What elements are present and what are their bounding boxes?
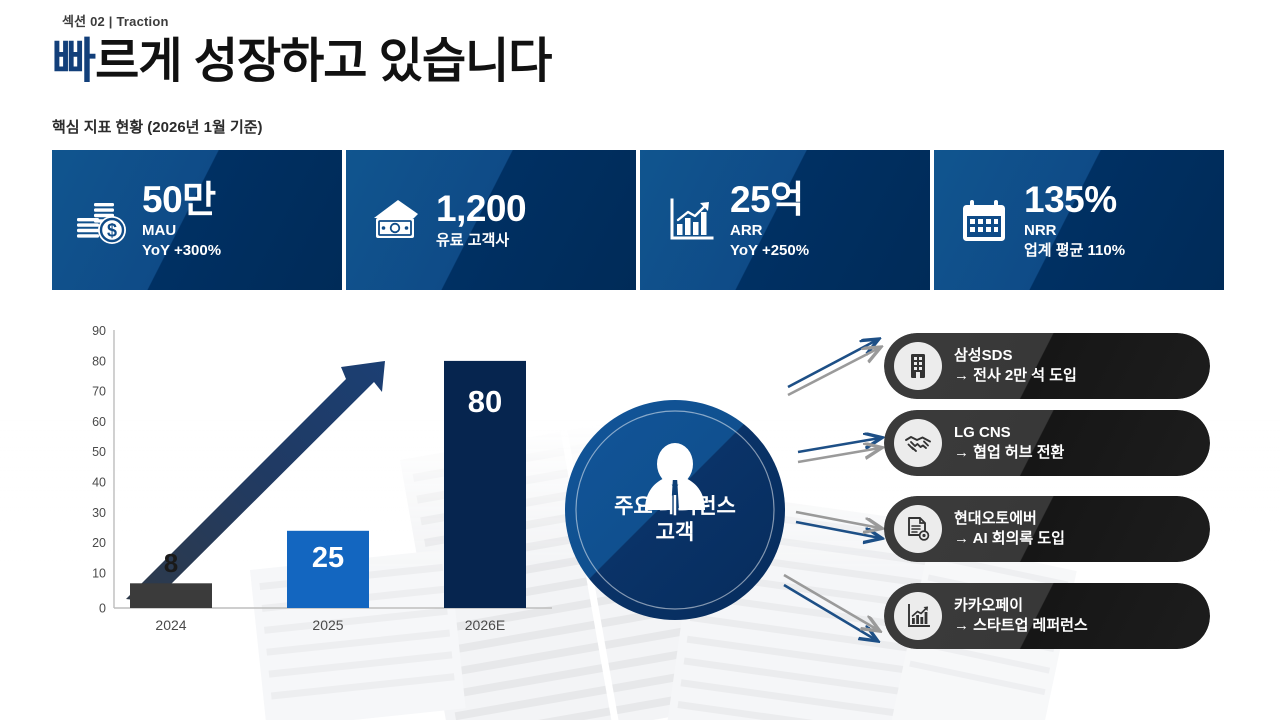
svg-text:2026E: 2026E <box>465 617 505 633</box>
pill-icon-badge <box>894 342 942 390</box>
svg-text:2025: 2025 <box>312 617 343 633</box>
calendar-icon <box>956 192 1012 248</box>
svg-text:40: 40 <box>92 476 106 490</box>
pill-title: 현대오토에버 <box>954 509 1065 529</box>
reference-pill-samsung-sds[interactable]: 삼성SDS → 전사 2만 석 도입 <box>884 333 1210 399</box>
kpi-sublabel: YoY +250% <box>730 241 809 261</box>
page-title: 빠르게 성장하고 있습니다 <box>52 34 551 89</box>
reference-pill-hyundai-autoever[interactable]: 현대오토에버 → AI 회의록 도입 <box>884 496 1210 562</box>
svg-text:10: 10 <box>92 566 106 580</box>
page-subtitle: 핵심 지표 현황 (2026년 1월 기준) <box>52 116 263 137</box>
page-title-accent: 빠 <box>52 35 95 88</box>
chart-growth-icon <box>904 602 932 630</box>
kpi-card-arr[interactable]: 25억 ARR YoY +250% <box>640 150 930 290</box>
svg-text:50: 50 <box>92 445 106 459</box>
connector-3 <box>796 512 880 538</box>
pill-title: 카카오페이 <box>954 596 1088 616</box>
pill-icon-badge <box>894 505 942 553</box>
kpi-sublabel: 업계 평균 110% <box>1024 241 1125 261</box>
pill-description: → 전사 2만 석 도입 <box>954 366 1077 386</box>
connector-arrows <box>780 320 900 660</box>
reference-hub[interactable]: 주요 레퍼런스 고객 <box>563 398 787 622</box>
pill-icon-badge <box>894 419 942 467</box>
kpi-sublabel: YoY +300% <box>142 241 221 261</box>
banknote-icon <box>368 192 424 248</box>
handshake-icon <box>904 429 932 457</box>
svg-text:30: 30 <box>92 506 106 520</box>
kpi-value: 135% <box>1024 180 1125 219</box>
pill-description: → 협업 허브 전환 <box>954 443 1064 463</box>
kpi-label: MAU <box>142 221 221 241</box>
svg-text:$: $ <box>107 221 117 241</box>
svg-text:20: 20 <box>92 536 106 550</box>
chart-y-ticks: 90 80 70 60 50 40 30 20 10 0 <box>92 324 106 616</box>
svg-text:2024: 2024 <box>155 617 186 633</box>
chart-value-label-2025: 25 <box>312 542 344 574</box>
kpi-card-paid-customers[interactable]: 1,200 유료 고객사 <box>346 150 636 290</box>
svg-text:0: 0 <box>99 602 106 616</box>
hub-circle <box>563 398 787 622</box>
page-title-rest: 르게 성장하고 있습니다 <box>95 35 551 88</box>
kpi-card-nrr[interactable]: 135% NRR 업계 평균 110% <box>934 150 1224 290</box>
bar-chart-up-icon <box>662 192 718 248</box>
document-gear-icon <box>904 515 932 543</box>
pill-title: 삼성SDS <box>954 346 1077 366</box>
connector-4 <box>784 575 878 640</box>
reference-pill-kakaopay[interactable]: 카카오페이 → 스타트업 레퍼런스 <box>884 583 1210 649</box>
section-eyebrow: 섹션 02 | Traction <box>62 11 169 30</box>
kpi-value: 50만 <box>142 180 221 219</box>
kpi-label: 유료 고객사 <box>436 231 526 251</box>
kpi-label: NRR <box>1024 221 1125 241</box>
chart-bar-2024 <box>130 583 212 608</box>
kpi-card-mau[interactable]: $ 50만 MAU YoY +300% <box>52 150 342 290</box>
chart-x-ticks: 2024 2025 2026E <box>155 617 505 633</box>
coins-dollar-icon: $ <box>74 192 130 248</box>
kpi-card-row: $ 50만 MAU YoY +300% <box>52 150 1228 290</box>
kpi-label: ARR <box>730 221 809 241</box>
kpi-value: 1,200 <box>436 189 526 228</box>
building-icon <box>904 352 932 380</box>
svg-text:60: 60 <box>92 415 106 429</box>
svg-text:90: 90 <box>92 324 106 338</box>
chart-value-label-2024: 8 <box>164 548 178 578</box>
pill-title: LG CNS <box>954 423 1064 443</box>
pill-icon-badge <box>894 592 942 640</box>
connector-2 <box>798 438 880 462</box>
svg-text:80: 80 <box>92 354 106 368</box>
connector-1 <box>788 340 879 395</box>
pill-description: → AI 회의록 도입 <box>954 529 1065 549</box>
slide-root: 섹션 02 | Traction 빠르게 성장하고 있습니다 핵심 지표 현황 … <box>0 0 1280 720</box>
pill-description: → 스타트업 레퍼런스 <box>954 616 1088 636</box>
svg-text:70: 70 <box>92 385 106 399</box>
growth-bar-chart: 90 80 70 60 50 40 30 20 10 0 8 25 80 202… <box>52 322 562 642</box>
kpi-value: 25억 <box>730 180 809 219</box>
reference-pill-lg-cns[interactable]: LG CNS → 협업 허브 전환 <box>884 410 1210 476</box>
chart-value-label-2026e: 80 <box>468 384 502 419</box>
